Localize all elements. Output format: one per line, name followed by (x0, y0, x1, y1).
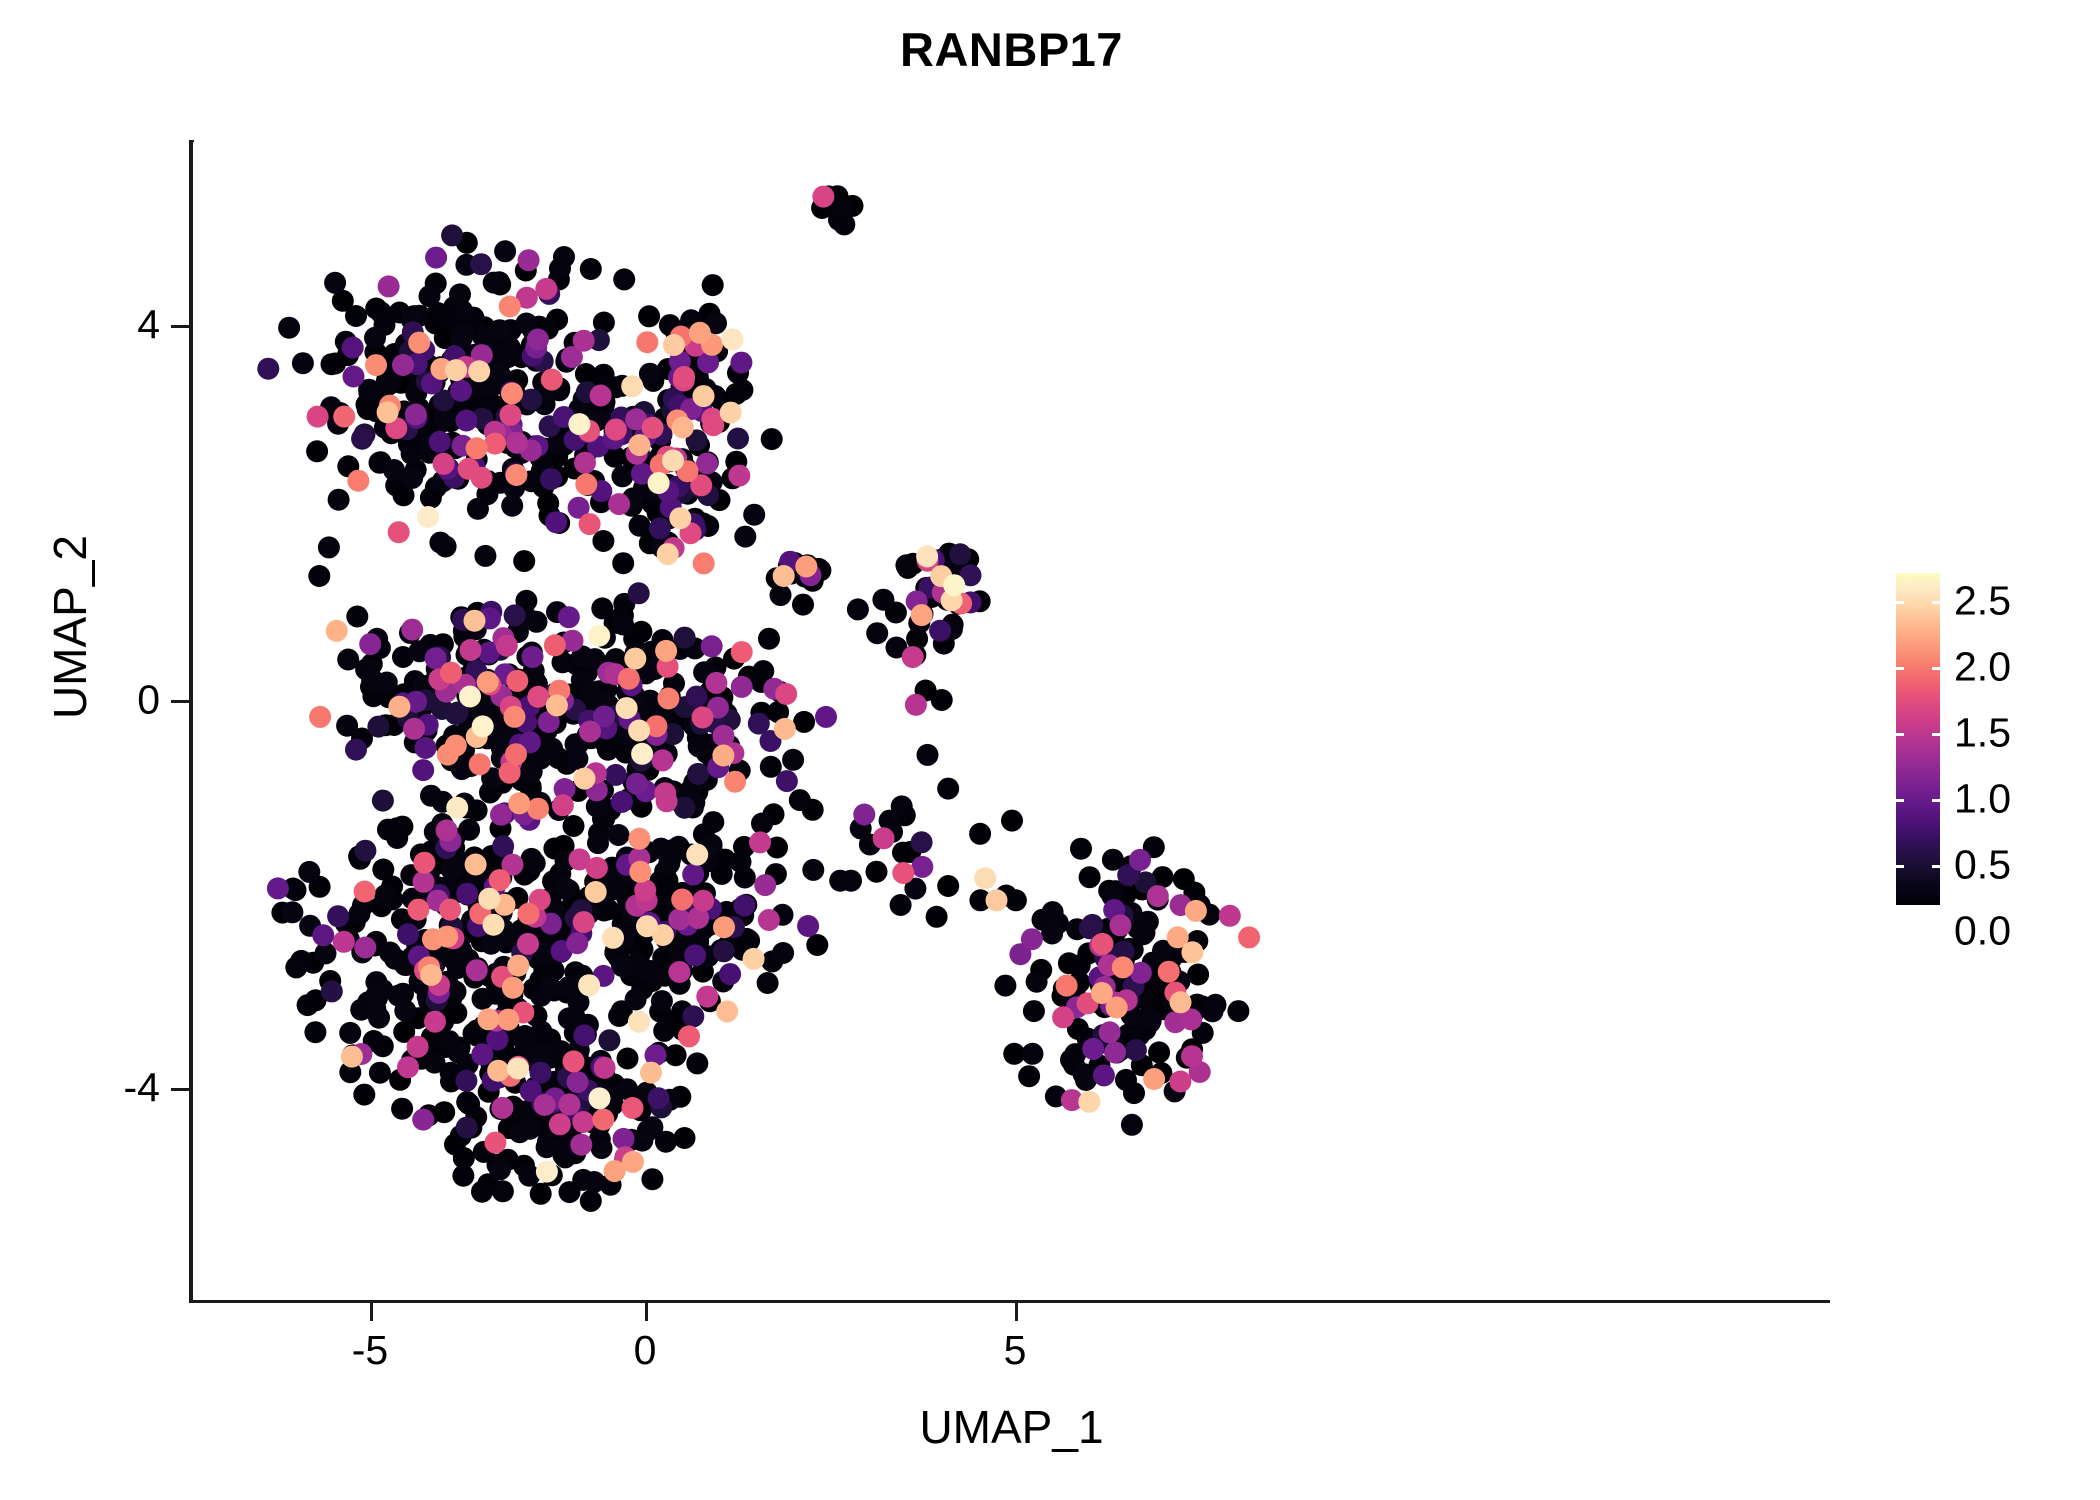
scatter-point (625, 989, 647, 1011)
scatter-point (459, 686, 481, 708)
scatter-point (657, 543, 679, 565)
scatter-point (494, 240, 516, 262)
y-tick-label: -4 (0, 1065, 160, 1112)
scatter-point (931, 689, 953, 711)
scatter-point (336, 715, 358, 737)
scatter-point (793, 711, 815, 733)
x-tick-mark (645, 1303, 648, 1321)
scatter-point (419, 285, 441, 307)
scatter-point (1147, 885, 1169, 907)
scatter-point (492, 1180, 514, 1202)
scatter-point (500, 404, 522, 426)
scatter-point (672, 417, 694, 439)
scatter-point (1078, 1091, 1100, 1113)
scatter-point (324, 353, 346, 375)
scatter-point (608, 493, 630, 515)
scatter-point (974, 867, 996, 889)
x-tick-label: -5 (352, 1327, 388, 1374)
scatter-point (891, 795, 913, 817)
scatter-point (682, 1005, 704, 1027)
scatter-point (537, 492, 559, 514)
scatter-point (688, 735, 710, 757)
scatter-point (792, 594, 814, 616)
scatter-point (1181, 941, 1203, 963)
scatter-point (474, 545, 496, 567)
scatter-point (969, 823, 991, 845)
scatter-point (388, 521, 410, 543)
scatter-point (713, 940, 735, 962)
scatter-point (579, 721, 601, 743)
scatter-point (782, 749, 804, 771)
scatter-point (333, 931, 355, 953)
scatter-point (730, 352, 752, 374)
scatter-point (392, 354, 414, 376)
scatter-point (377, 401, 399, 423)
scatter-point (478, 888, 500, 910)
scatter-point (445, 735, 467, 757)
scatter-point (555, 877, 577, 899)
scatter-point (549, 1113, 571, 1135)
scatter-point (733, 895, 755, 917)
scatter-point (892, 862, 914, 884)
scatter-point (588, 625, 610, 647)
y-tick-mark (171, 700, 189, 703)
scatter-point (651, 990, 673, 1012)
scatter-point (1158, 961, 1180, 983)
scatter-point (452, 1165, 474, 1187)
scatter-point (440, 662, 462, 684)
scatter-point (624, 648, 646, 670)
scatter-point (773, 565, 795, 587)
scatter-point (712, 745, 734, 767)
scatter-point (591, 1137, 613, 1159)
scatter-point (304, 1021, 326, 1043)
scatter-point (611, 791, 633, 813)
scatter-point (713, 916, 735, 938)
scatter-point (483, 914, 505, 936)
scatter-point (705, 672, 727, 694)
scatter-point (638, 305, 660, 327)
scatter-point (754, 874, 776, 896)
scatter-point (328, 489, 350, 511)
scatter-point (590, 385, 612, 407)
scatter-point (911, 856, 933, 878)
scatter-point (731, 641, 753, 663)
scatter-point (292, 352, 314, 374)
scatter-point (655, 640, 677, 662)
scatter-point (949, 543, 971, 565)
scatter-point (722, 328, 744, 350)
scatter-point (608, 824, 630, 846)
scatter-point (1022, 1043, 1044, 1065)
scatter-point (631, 743, 653, 765)
scatter-point (618, 668, 640, 690)
scatter-point (943, 574, 965, 596)
scatter-point (761, 428, 783, 450)
scatter-point (776, 770, 798, 792)
scatter-point (506, 670, 528, 692)
scatter-point (573, 1024, 595, 1046)
scatter-point (487, 1060, 509, 1082)
scatter-point (758, 909, 780, 931)
scatter-point (616, 1078, 638, 1100)
scatter-point (455, 410, 477, 432)
scatter-point (415, 737, 437, 759)
scatter-point (439, 899, 461, 921)
scatter-point (686, 844, 708, 866)
scatter-point (460, 639, 482, 661)
scatter-point (353, 1084, 375, 1106)
scatter-point (770, 584, 792, 606)
y-tick-mark (171, 1088, 189, 1091)
scatter-point (589, 1087, 611, 1109)
scatter-point (489, 1158, 511, 1180)
scatter-point (682, 864, 704, 886)
scatter-point (536, 1161, 558, 1183)
scatter-point (1109, 914, 1131, 936)
scatter-point (386, 827, 408, 849)
scatter-point (775, 683, 797, 705)
scatter-point (994, 975, 1016, 997)
scatter-point (379, 942, 401, 964)
scatter-point (574, 768, 596, 790)
scatter-point (831, 198, 853, 220)
scatter-point (1081, 914, 1103, 936)
scatter-point (281, 901, 303, 923)
scatter-point (917, 744, 939, 766)
scatter-point (452, 321, 474, 343)
scatter-point (417, 506, 439, 528)
scatter-point (541, 369, 563, 391)
scatter-point (730, 851, 752, 873)
scatter-point (483, 272, 505, 294)
scatter-point (369, 1062, 391, 1084)
scatter-point (1079, 866, 1101, 888)
scatter-point (668, 908, 690, 930)
scatter-point (1112, 956, 1134, 978)
scatter-point (586, 857, 608, 879)
scatter-point (1069, 954, 1091, 976)
scatter-point (364, 327, 386, 349)
scatter-point (612, 614, 634, 636)
colorbar-tick-mark (1932, 601, 1940, 604)
scatter-point (574, 452, 596, 474)
scatter-point (507, 1057, 529, 1079)
scatter-point (628, 582, 650, 604)
scatter-point (519, 1118, 541, 1140)
scatter-point (553, 246, 575, 268)
scatter-point (895, 554, 917, 576)
scatter-point (648, 1087, 670, 1109)
scatter-point (365, 354, 387, 376)
scatter-point (413, 871, 435, 893)
scatter-point (727, 428, 749, 450)
colorbar-tick-mark (1932, 667, 1940, 670)
colorbar-tick-label: 0.0 (1954, 908, 2011, 955)
scatter-point (795, 556, 817, 578)
scatter-point (449, 283, 471, 305)
scatter-point (491, 1097, 513, 1119)
scatter-point (580, 1190, 602, 1212)
scatter-point (425, 247, 447, 269)
scatter-point (501, 382, 523, 404)
scatter-point (866, 861, 888, 883)
scatter-point (628, 1011, 650, 1033)
scatter-point (466, 437, 488, 459)
scatter-point (480, 933, 502, 955)
scatter-point (534, 1094, 556, 1116)
scatter-point (640, 1062, 662, 1084)
scatter-point (522, 646, 544, 668)
scatter-point (467, 498, 489, 520)
scatter-point (634, 879, 656, 901)
scatter-point (372, 790, 394, 812)
scatter-point (309, 706, 331, 728)
scatter-point (696, 453, 718, 475)
scatter-point (408, 332, 430, 354)
scatter-point (563, 1050, 585, 1072)
scatter-point (466, 959, 488, 981)
scatter-point (1143, 1068, 1165, 1090)
scatter-point (489, 869, 511, 891)
scatter-point (872, 589, 894, 611)
colorbar-tick-label: 1.0 (1954, 776, 2011, 823)
scatter-point (628, 828, 650, 850)
colorbar-tick-label: 0.5 (1954, 842, 2011, 889)
scatter-point (546, 694, 568, 716)
scatter-point (716, 1000, 738, 1022)
scatter-point (657, 688, 679, 710)
plot-panel (193, 142, 1830, 1300)
scatter-point (573, 330, 595, 352)
scatter-point (1187, 964, 1209, 986)
scatter-point (506, 432, 528, 454)
scatter-point (1093, 1064, 1115, 1086)
scatter-point (424, 1052, 446, 1074)
scatter-point (605, 764, 627, 786)
scatter-point (692, 706, 714, 728)
scatter-point (501, 495, 523, 517)
scatter-point (640, 960, 662, 982)
scatter-point (743, 504, 765, 526)
scatter-point (575, 473, 597, 495)
scatter-point (757, 972, 779, 994)
scatter-point (518, 249, 540, 271)
scatter-point (397, 1056, 419, 1078)
scatter-point (585, 881, 607, 903)
scatter-point (367, 716, 389, 738)
scatter-point (905, 694, 927, 716)
scatter-point (397, 923, 419, 945)
scatter-point (470, 253, 492, 275)
scatter-point (639, 363, 661, 385)
scatter-point (1052, 1006, 1074, 1028)
scatter-point (937, 875, 959, 897)
scatter-point (507, 955, 529, 977)
scatter-point (455, 1070, 477, 1092)
y-axis-label: UMAP_2 (43, 327, 97, 927)
scatter-point (622, 1097, 644, 1119)
scatter-point (873, 827, 895, 849)
scatter-point (1134, 922, 1156, 944)
scatter-point (490, 804, 512, 826)
scatter-point (1099, 1021, 1121, 1043)
scatter-point (341, 1046, 363, 1068)
scatter-point (346, 606, 368, 628)
scatter-point (354, 881, 376, 903)
colorbar-tick-mark (1932, 865, 1940, 868)
scatter-point (720, 402, 742, 424)
scatter-point (701, 635, 723, 657)
scatter-point (628, 720, 650, 742)
scatter-point (668, 961, 690, 983)
scatter-point (613, 268, 635, 290)
scatter-point (424, 1011, 446, 1033)
scatter-point (580, 258, 602, 280)
scatter-point (433, 453, 455, 475)
scatter-point (318, 536, 340, 558)
scatter-point (376, 886, 398, 908)
scatter-point (441, 224, 463, 246)
scatter-point (612, 552, 634, 574)
scatter-point (407, 899, 429, 921)
scatter-point (378, 275, 400, 297)
scatter-point (403, 718, 425, 740)
scatter-point (702, 811, 724, 833)
scatter-point (663, 334, 685, 356)
scatter-point (1092, 933, 1114, 955)
scatter-point (471, 1043, 493, 1065)
scatter-point (278, 317, 300, 339)
scatter-point (731, 676, 753, 698)
scatter-point (429, 532, 451, 554)
scatter-point (464, 610, 486, 632)
scatter-point (376, 672, 398, 694)
scatter-point (578, 974, 600, 996)
scatter-point (558, 606, 580, 628)
scatter-point (513, 550, 535, 572)
scatter-point (684, 944, 706, 966)
scatter-point (530, 1183, 552, 1205)
scatter-point (540, 468, 562, 490)
scatter-point (407, 1036, 429, 1058)
scatter-point (674, 627, 696, 649)
scatter-point (636, 331, 658, 353)
scatter-point (1238, 926, 1260, 948)
scatter-point (728, 465, 750, 487)
scatter-point (333, 406, 355, 428)
scatter-point (508, 792, 530, 814)
scatter-point (306, 440, 328, 462)
scatter-point (401, 467, 423, 489)
scatter-point (673, 366, 695, 388)
scatter-point (1023, 1000, 1045, 1022)
scatter-points-layer (193, 142, 1830, 1300)
scatter-point (743, 948, 765, 970)
scatter-point (628, 434, 650, 456)
scatter-point (572, 1111, 594, 1133)
scatter-point (1104, 1042, 1126, 1064)
scatter-point (257, 358, 279, 380)
scatter-point (413, 852, 435, 874)
color-legend: 2.52.01.51.00.50.0 (1896, 573, 2096, 905)
scatter-point (926, 906, 948, 928)
scatter-point (774, 718, 796, 740)
scatter-point (327, 905, 349, 927)
scatter-point (724, 771, 746, 793)
scatter-point (629, 515, 651, 537)
scatter-point (734, 526, 756, 548)
scatter-point (544, 634, 566, 656)
scatter-point (629, 861, 651, 883)
scatter-point (641, 1168, 663, 1190)
scatter-point (267, 877, 289, 899)
scatter-point (388, 696, 410, 718)
x-tick-label: 5 (1004, 1327, 1027, 1374)
scatter-point (347, 470, 369, 492)
scatter-point (751, 813, 773, 835)
scatter-point (436, 926, 458, 948)
x-axis-label: UMAP_1 (193, 1400, 1830, 1454)
scatter-point (652, 749, 674, 771)
scatter-point (337, 649, 359, 671)
scatter-point (1227, 1000, 1249, 1022)
scatter-point (583, 1171, 605, 1193)
scatter-point (892, 842, 914, 864)
scatter-point (345, 305, 367, 327)
scatter-point (1021, 928, 1043, 950)
scatter-point (342, 337, 364, 359)
scatter-point (465, 854, 487, 876)
scatter-point (1219, 905, 1241, 927)
scatter-point (505, 743, 527, 765)
scatter-point (484, 1132, 506, 1154)
scatter-point (1026, 971, 1048, 993)
scatter-point (343, 366, 365, 388)
scatter-point (436, 819, 458, 841)
scatter-point (535, 278, 557, 300)
scatter-point (558, 1093, 580, 1115)
scatter-point (1005, 889, 1027, 911)
scatter-point (573, 911, 595, 933)
scatter-point (605, 419, 627, 441)
scatter-point (1115, 1069, 1137, 1091)
scatter-point (789, 789, 811, 811)
scatter-point (1202, 1000, 1224, 1022)
scatter-point (321, 980, 343, 1002)
scatter-point (616, 697, 638, 719)
scatter-point (351, 428, 373, 450)
scatter-point (686, 686, 708, 708)
scatter-point (521, 761, 543, 783)
scatter-point (307, 406, 329, 428)
scatter-point (911, 604, 933, 626)
scatter-point (498, 342, 520, 364)
scatter-point (911, 831, 933, 853)
scatter-point (477, 1008, 499, 1030)
colorbar-tick-label: 2.5 (1954, 578, 2011, 625)
scatter-point (298, 861, 320, 883)
scatter-point (986, 889, 1008, 911)
scatter-point (669, 507, 691, 529)
page-title: RANBP17 (193, 22, 1830, 77)
scatter-point (326, 620, 348, 642)
scatter-point (731, 379, 753, 401)
colorbar-tick-label: 1.5 (1954, 710, 2011, 757)
scatter-point (847, 598, 869, 620)
scatter-point (758, 628, 780, 650)
scatter-point (866, 622, 888, 644)
